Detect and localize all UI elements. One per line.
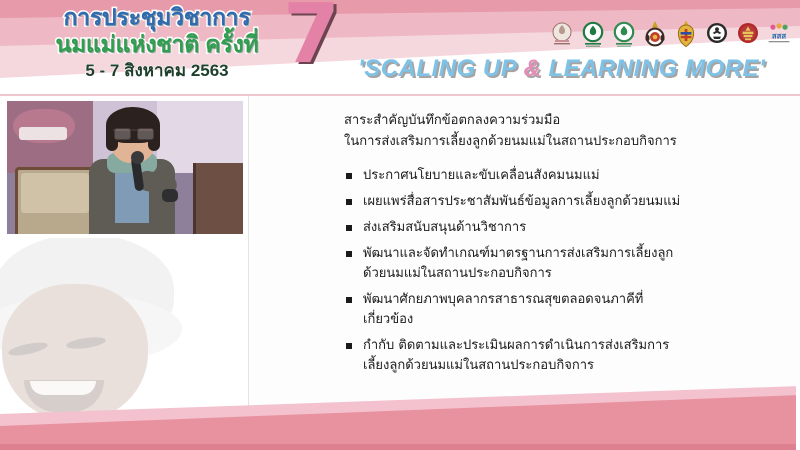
conference-banner: การประชุมวิชาการ นมแม่แห่งชาติ ครั้งที่ … (0, 0, 800, 96)
slide-bullet-list: ประกาศนโยบายและขับเคลื่อนสังคมนมแม่ เผยแ… (344, 166, 784, 376)
conference-date: 5 - 7 สิงหาคม 2563 (22, 60, 292, 82)
tagline-part-open: 'SCALING UP (358, 55, 524, 82)
video-speaker-glasses-right (137, 128, 154, 140)
thaihealth-sss-logo: สสส (766, 20, 792, 50)
slide-content-inner: สาระสำคัญบันทึกข้อตกลงความร่วมมือ ในการส… (344, 110, 784, 382)
red-circle-crest-logo (735, 20, 761, 50)
speaker-presentation-video[interactable] (7, 101, 243, 234)
list-item: ประกาศนโยบายและขับเคลื่อนสังคมนมแม่ (344, 166, 685, 186)
video-speaker-glasses-left (114, 128, 131, 140)
conference-title-line2: นมแม่แห่งชาติ ครั้งที่ (22, 31, 292, 57)
slide-intro-line2: ในการส่งเสริมการเลี้ยงลูกด้วยนมแม่ในสถาน… (344, 131, 784, 152)
microphone-head-icon (131, 151, 144, 164)
tagline-part-close: LEARNING MORE' (541, 55, 765, 82)
list-item: กำกับ ติดตามและประเมินผลการดำเนินการส่งเ… (344, 336, 685, 376)
svg-text:สสส: สสส (772, 31, 787, 40)
ministry-public-health-logo (580, 20, 606, 50)
video-chair-right (193, 163, 243, 234)
garuda-emblem-logo (704, 20, 730, 50)
slide-intro-line1: สาระสำคัญบันทึกข้อตกลงความร่วมมือ (344, 110, 784, 131)
list-item: พัฒนาและจัดทำเกณฑ์มาตรฐานการส่งเสริมการเ… (344, 244, 685, 284)
tagline-ampersand: & (524, 55, 542, 82)
video-backdrop-teeth (19, 127, 67, 140)
presentation-slide: การประชุมวิชาการ นมแม่แห่งชาติ ครั้งที่ … (0, 0, 800, 450)
conference-title-block: การประชุมวิชาการ นมแม่แห่งชาติ ครั้งที่ … (22, 4, 292, 82)
slide-intro-heading: สาระสำคัญบันทึกข้อตกลงความร่วมมือ ในการส… (344, 110, 784, 152)
health-department-logo (611, 20, 637, 50)
conference-tagline: 'SCALING UP & LEARNING MORE' (358, 55, 765, 83)
royal-seal-logo (549, 20, 575, 50)
list-item: ส่งเสริมสนับสนุนด้านวิชาการ (344, 218, 685, 238)
footer-pink-band (0, 386, 800, 450)
footer-band-right-edge (796, 386, 800, 450)
conference-title-line1: การประชุมวิชาการ (22, 4, 292, 30)
video-speaker-hand-clicker (162, 189, 178, 202)
thai-pavilion-logo (642, 20, 668, 50)
royal-crest-logo (673, 20, 699, 50)
list-item: พัฒนาศักยภาพบุคลากรสาธารณสุขตลอดจนภาคีที… (344, 290, 685, 330)
footer-band-edge-dark (0, 444, 800, 450)
list-item: เผยแพร่สื่อสารประชาสัมพันธ์ข้อมูลการเลี้… (344, 192, 685, 212)
video-chair-left-cushion (21, 173, 89, 213)
sponsor-logo-row: สสส (549, 20, 792, 50)
